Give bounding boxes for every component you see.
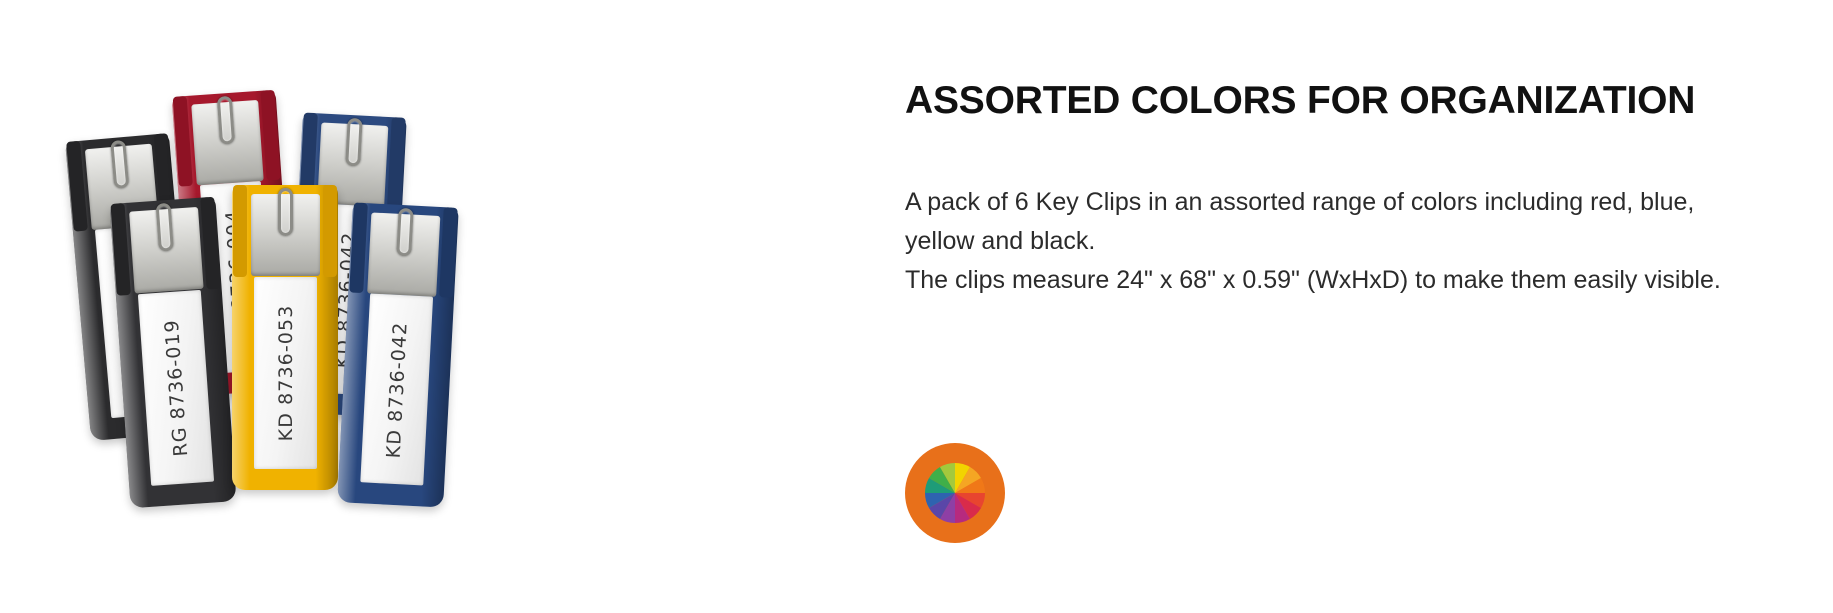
clip-insert-label: KD 8736-053	[254, 277, 317, 469]
product-image: RG 8736-019 KD 8736-004	[0, 0, 760, 613]
clip-tab-right	[323, 185, 337, 277]
clip-label-text: RG 8736-019	[160, 318, 192, 457]
color-wheel-badge	[905, 443, 1005, 543]
key-clip-group: RG 8736-019 KD 8736-004	[60, 75, 510, 475]
clip-insert-label: RG 8736-019	[138, 289, 214, 485]
color-wheel-icon	[925, 463, 985, 523]
description-paragraph-2: The clips measure 24" x 68" x 0.59" (WxH…	[905, 261, 1743, 300]
clip-split-ring	[345, 118, 362, 167]
product-copy: ASSORTED COLORS FOR ORGANIZATION A pack …	[905, 0, 1765, 613]
product-description: A pack of 6 Key Clips in an assorted ran…	[905, 183, 1743, 300]
clip-label-text: KD 8736-042	[382, 321, 411, 459]
clip-tab-left	[233, 185, 247, 277]
key-clip-blue-front: KD 8736-042	[337, 202, 459, 507]
clip-insert-label: KD 8736-042	[361, 293, 433, 485]
key-clip-yellow: KD 8736-053	[232, 185, 338, 490]
clip-split-ring	[396, 208, 413, 257]
clip-label-text: KD 8736-053	[275, 304, 297, 441]
key-clip-black-front: RG 8736-019	[109, 197, 236, 509]
product-feature-panel: RG 8736-019 KD 8736-004	[0, 0, 1833, 613]
description-paragraph-1: A pack of 6 Key Clips in an assorted ran…	[905, 183, 1743, 261]
page-title: ASSORTED COLORS FOR ORGANIZATION	[905, 78, 1785, 124]
clip-split-ring	[278, 188, 293, 236]
